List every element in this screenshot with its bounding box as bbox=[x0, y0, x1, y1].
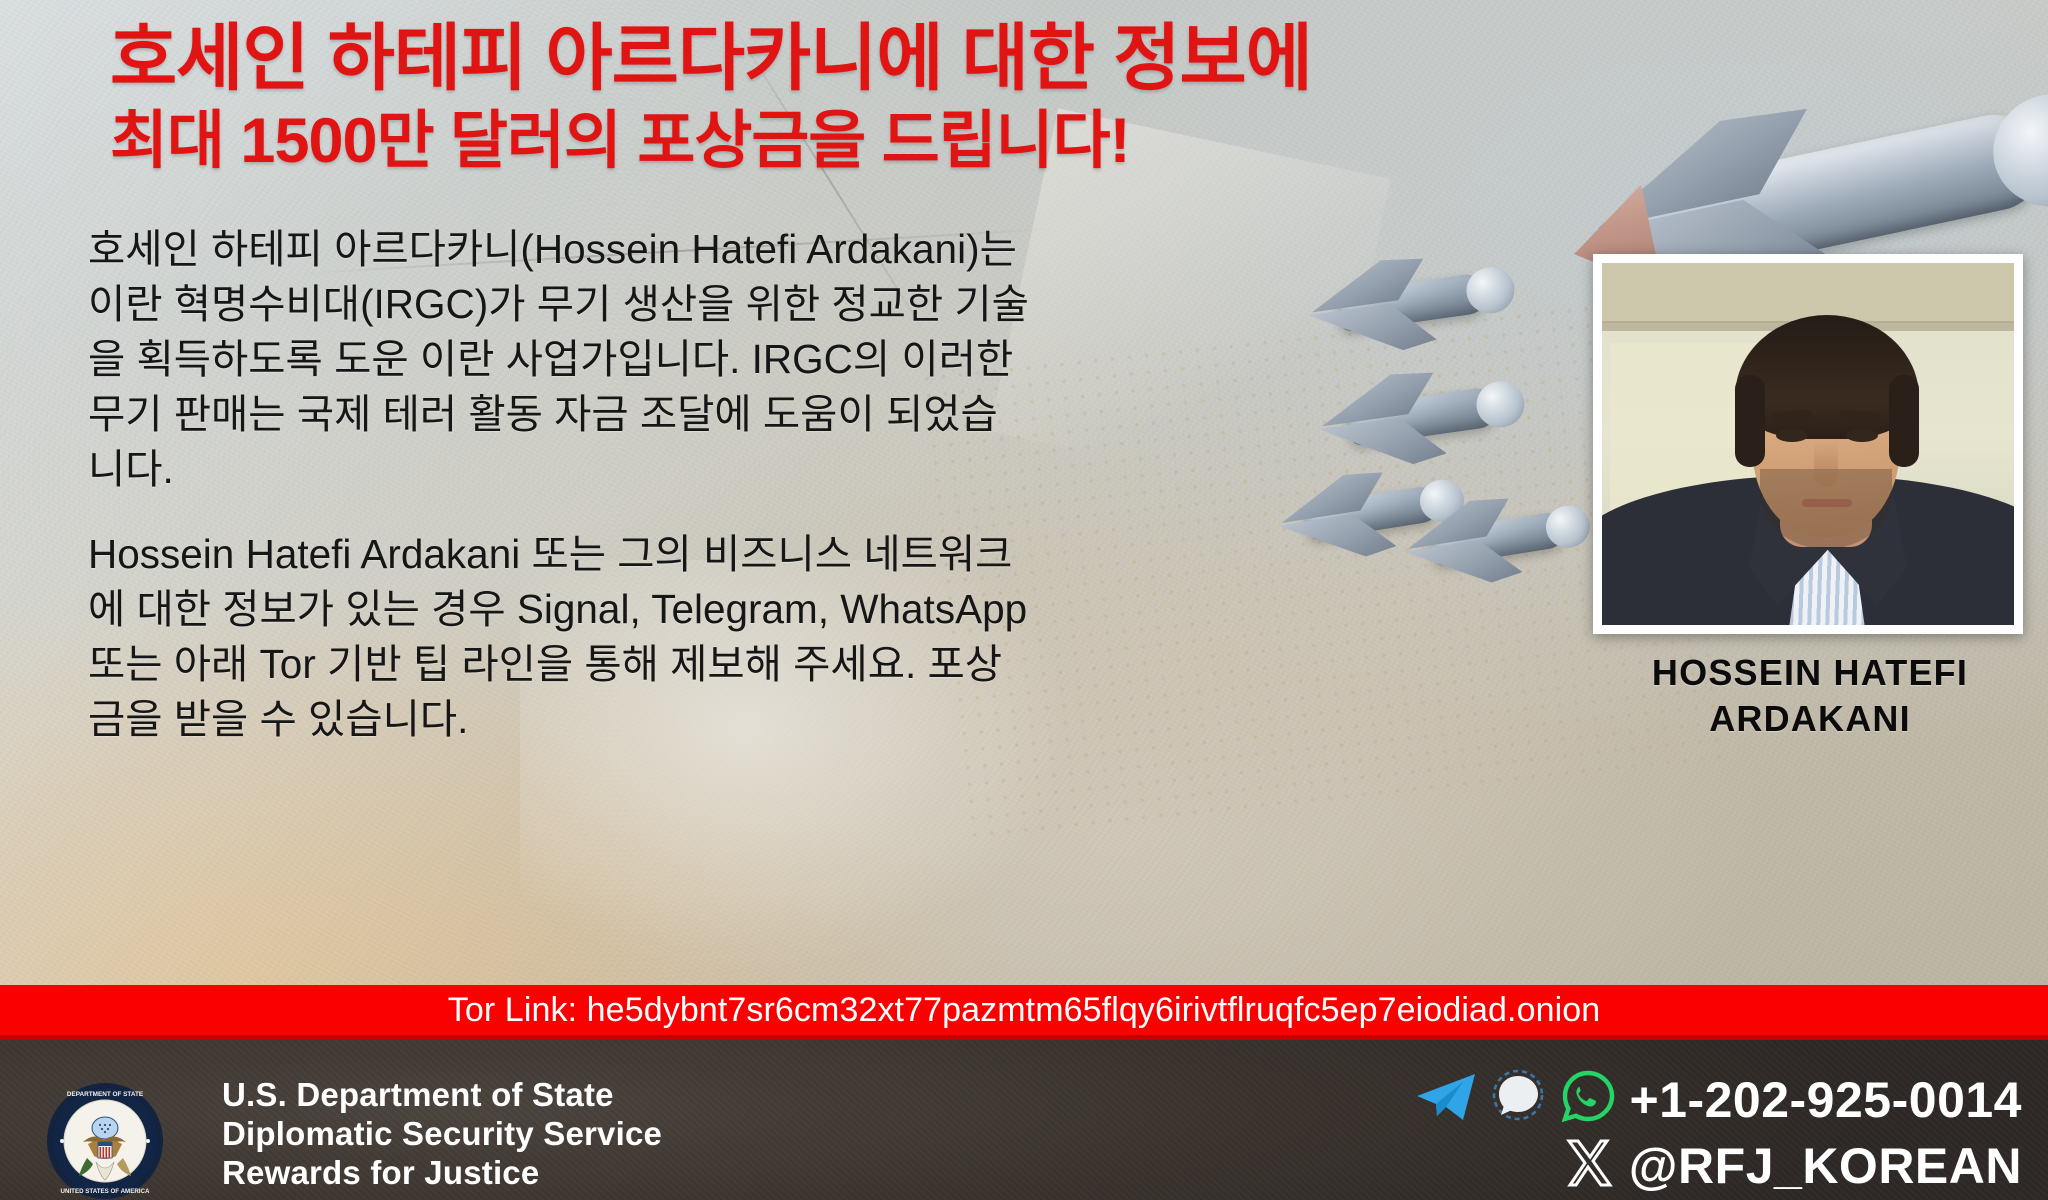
agency-line-3: Rewards for Justice bbox=[222, 1153, 662, 1192]
portrait-caption-line-2: ARDAKANI bbox=[1560, 696, 2048, 742]
subject-eye-left bbox=[1776, 429, 1808, 442]
subject-nose bbox=[1814, 441, 1838, 487]
contact-social-handle[interactable]: @RFJ_KOREAN bbox=[1629, 1138, 2022, 1194]
headline-line-2: 최대 1500만 달러의 포상금을 드립니다! bbox=[110, 102, 1610, 180]
suspect-photo bbox=[1602, 263, 2014, 625]
whatsapp-icon[interactable] bbox=[1559, 1068, 1617, 1131]
photo-background-band bbox=[1602, 263, 2014, 323]
subject-hair-left bbox=[1735, 375, 1765, 467]
tor-link-text[interactable]: Tor Link: he5dybnt7sr6cm32xt77pazmtm65fl… bbox=[448, 991, 1601, 1030]
svg-text:UNITED STATES OF AMERICA: UNITED STATES OF AMERICA bbox=[61, 1188, 150, 1195]
contact-block: +1-202-925-0014 @RFJ_KOREAN bbox=[962, 1068, 2022, 1196]
svg-text:DEPARTMENT OF STATE: DEPARTMENT OF STATE bbox=[67, 1091, 144, 1098]
telegram-icon[interactable] bbox=[1415, 1070, 1477, 1129]
subject-mouth bbox=[1802, 499, 1852, 507]
body-copy: 호세인 하테피 아르다카니(Hossein Hatefi Ardakani)는 … bbox=[88, 222, 1033, 777]
x-twitter-icon[interactable] bbox=[1561, 1135, 1617, 1196]
signal-icon[interactable] bbox=[1489, 1068, 1547, 1131]
portrait-caption: HOSSEIN HATEFI ARDAKANI bbox=[1560, 650, 2048, 742]
suspect-portrait-frame bbox=[1593, 254, 2023, 634]
rewards-for-justice-poster: 호세인 하테피 아르다카니에 대한 정보에 최대 1500만 달러의 포상금을 … bbox=[0, 0, 2048, 1200]
headline-line-1: 호세인 하테피 아르다카니에 대한 정보에 bbox=[110, 16, 1610, 102]
body-paragraph-1: 호세인 하테피 아르다카니(Hossein Hatefi Ardakani)는 … bbox=[88, 222, 1033, 497]
page-title: 호세인 하테피 아르다카니에 대한 정보에 최대 1500만 달러의 포상금을 … bbox=[110, 16, 1610, 180]
body-paragraph-2: Hossein Hatefi Ardakani 또는 그의 비즈니스 네트워크에… bbox=[88, 527, 1033, 747]
agency-line-2: Diplomatic Security Service bbox=[222, 1114, 662, 1153]
subject-hair-right bbox=[1889, 375, 1919, 467]
agency-names: U.S. Department of State Diplomatic Secu… bbox=[222, 1075, 662, 1192]
portrait-caption-line-1: HOSSEIN HATEFI bbox=[1560, 650, 2048, 696]
contact-phone[interactable]: +1-202-925-0014 bbox=[1629, 1072, 2022, 1128]
drone-small-1 bbox=[1280, 242, 1522, 373]
subject-eye-right bbox=[1846, 429, 1878, 442]
contact-phone-row: +1-202-925-0014 bbox=[962, 1068, 2022, 1131]
department-of-state-seal-icon: DEPARTMENT OF STATE UNITED STATES OF AME… bbox=[46, 1082, 164, 1200]
agency-line-1: U.S. Department of State bbox=[222, 1075, 662, 1114]
contact-social-row: @RFJ_KOREAN bbox=[962, 1135, 2022, 1196]
tor-link-bar[interactable]: Tor Link: he5dybnt7sr6cm32xt77pazmtm65fl… bbox=[0, 985, 2048, 1035]
footer-accent-line bbox=[0, 1035, 2048, 1040]
